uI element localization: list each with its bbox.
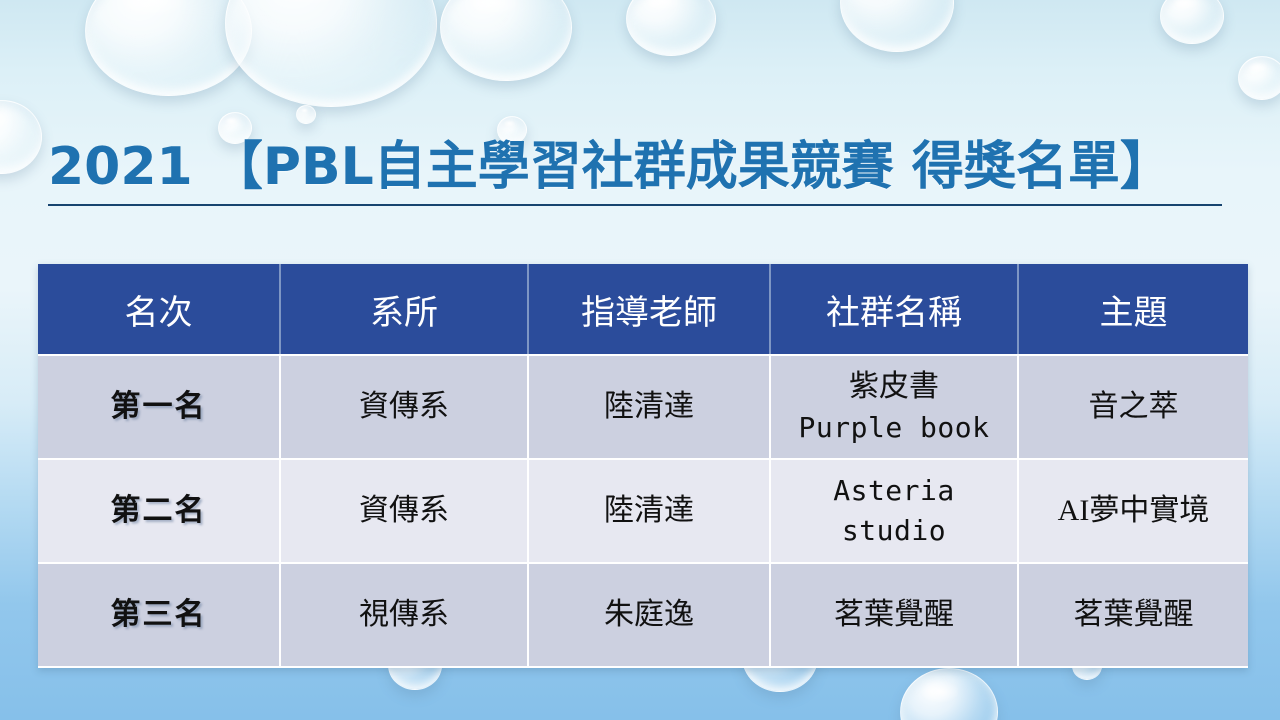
page-title: 2021 【PBL自主學習社群成果競賽 得獎名單】 — [48, 138, 1238, 196]
water-droplet-icon — [0, 100, 42, 174]
water-droplet-icon — [900, 668, 998, 720]
cell-rank: 第三名 — [38, 563, 280, 667]
cell-topic: AI夢中實境 — [1018, 459, 1248, 563]
water-droplet-icon — [1238, 56, 1280, 100]
cell-topic: 茗葉覺醒 — [1018, 563, 1248, 667]
column-header-topic: 主題 — [1018, 264, 1248, 355]
cell-department: 視傳系 — [280, 563, 528, 667]
cell-group-name-line1: Asteria — [775, 471, 1013, 511]
column-header-rank: 名次 — [38, 264, 280, 355]
column-header-advisor: 指導老師 — [528, 264, 770, 355]
table-row: 第三名 視傳系 朱庭逸 茗葉覺醒 茗葉覺醒 — [38, 563, 1248, 667]
water-droplet-icon — [85, 0, 252, 96]
column-header-group-name: 社群名稱 — [770, 264, 1018, 355]
table-row: 第二名 資傳系 陸清達 Asteria studio AI夢中實境 — [38, 459, 1248, 563]
cell-rank: 第一名 — [38, 355, 280, 459]
cell-advisor: 朱庭逸 — [528, 563, 770, 667]
table-header-row: 名次 系所 指導老師 社群名稱 主題 — [38, 264, 1248, 355]
cell-group-name: Asteria studio — [770, 459, 1018, 563]
cell-topic: 音之萃 — [1018, 355, 1248, 459]
water-droplet-icon — [440, 0, 572, 81]
water-droplet-icon — [1160, 0, 1224, 44]
water-droplet-icon — [840, 0, 954, 52]
cell-group-name: 紫皮書 Purple book — [770, 355, 1018, 459]
slide-canvas: 2021 【PBL自主學習社群成果競賽 得獎名單】 名次 系所 指導老師 社群名… — [0, 0, 1280, 720]
cell-department: 資傳系 — [280, 355, 528, 459]
water-droplet-icon — [225, 0, 437, 107]
title-block: 2021 【PBL自主學習社群成果競賽 得獎名單】 — [48, 138, 1238, 206]
water-droplet-icon — [626, 0, 716, 56]
cell-group-name-line2: Purple book — [775, 408, 1013, 448]
water-droplet-icon — [296, 105, 316, 124]
column-header-department: 系所 — [280, 264, 528, 355]
cell-rank: 第二名 — [38, 459, 280, 563]
cell-department: 資傳系 — [280, 459, 528, 563]
title-underline-rule — [48, 204, 1222, 206]
table-row: 第一名 資傳系 陸清達 紫皮書 Purple book 音之萃 — [38, 355, 1248, 459]
cell-group-name-line1: 茗葉覺醒 — [775, 594, 1013, 637]
cell-group-name-line2: studio — [775, 511, 1013, 551]
cell-advisor: 陸清達 — [528, 355, 770, 459]
cell-group-name: 茗葉覺醒 — [770, 563, 1018, 667]
cell-advisor: 陸清達 — [528, 459, 770, 563]
cell-group-name-line1: 紫皮書 — [775, 366, 1013, 409]
award-results-table: 名次 系所 指導老師 社群名稱 主題 第一名 資傳系 陸清達 紫皮書 Purpl… — [38, 264, 1248, 668]
